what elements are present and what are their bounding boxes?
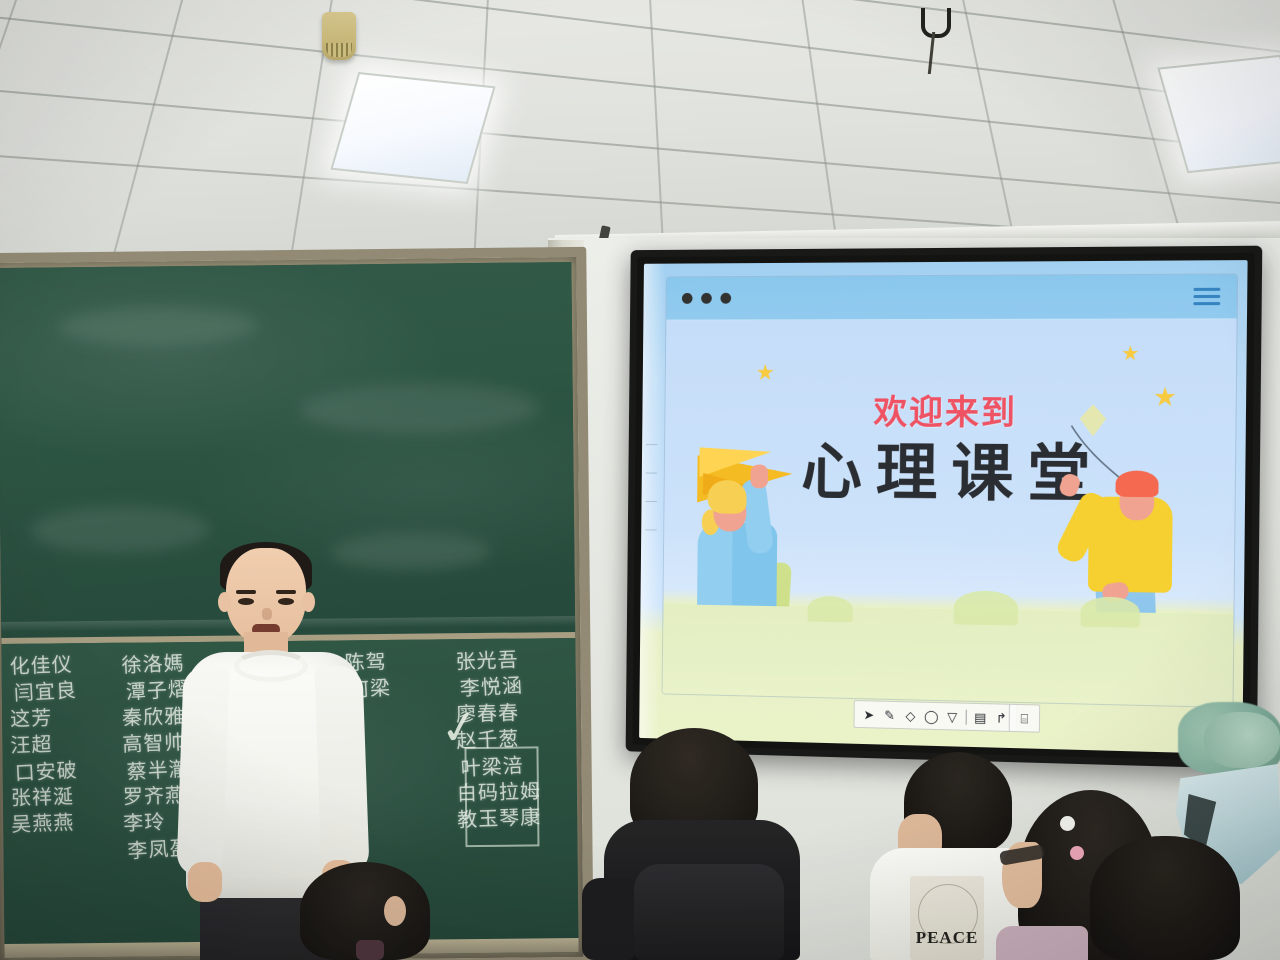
teacher-arm-right [314,665,369,875]
window-control-dots [682,293,731,304]
annotation-panel-icon[interactable]: ▤ [970,707,991,728]
teacher-nose [262,608,272,620]
toolbar-divider [966,709,967,724]
student-far-right [1090,836,1240,960]
teacher-ear-right [302,592,315,612]
teacher-eye-right [278,598,294,605]
pen-tool-icon[interactable]: ✎ [879,705,900,725]
window-dot-close-icon [682,293,693,304]
teacher-arm-left [176,665,229,876]
chalk-name: 吴燕燕 [11,810,123,836]
hamburger-menu-icon[interactable] [1193,288,1220,305]
slide-ground [663,604,1234,707]
bush-icon [954,590,1018,625]
browser-title-bar [666,274,1237,320]
chalk-name: 李悦涵 [460,672,573,700]
classroom-scene: 化佳仪 闫宜良 这芳 汪超 口安破 张祥涎 吴燕燕 徐洛媽 潭子熠 秦欣雅 高智… [0,0,1280,960]
window-dot-maximize-icon [720,293,731,304]
ceiling-hook-icon [921,8,947,68]
presentation-toolbar[interactable]: ➤ ✎ ◇ ◯ ▽ ▤ ↱ [854,700,1017,732]
interactive-display[interactable]: 欢迎来到 心理课堂 [626,246,1263,769]
smoke-detector-icon [322,12,356,60]
ceiling-tile-grid [0,0,1280,262]
teacher-collar [234,650,308,682]
slide-canvas: 欢迎来到 心理课堂 [663,319,1237,707]
shirt-peace-text: PEACE [910,928,984,948]
ceiling-light-panel-1 [330,72,495,184]
student-center-left [582,728,828,960]
browser-window-mockup: 欢迎来到 心理课堂 [663,274,1238,707]
display-screen[interactable]: 欢迎来到 心理课堂 [639,260,1247,754]
presentation-toolbar-secondary[interactable]: ⌸ [1009,704,1041,733]
chalk-name: 张光吾 [456,647,568,673]
teacher-hand-left [188,862,222,902]
magnifier-tool-icon[interactable]: ◯ [921,706,942,727]
student-front-left [300,862,430,960]
chalk-name: 口安破 [14,756,127,784]
chalk-name: 闫宜良 [13,677,126,705]
teacher-eye-left [238,598,254,605]
presentation-sidebar-edge [639,264,665,739]
bush-icon [1081,596,1140,627]
box-annotation-icon [464,746,539,847]
chalk-name: 张祥涎 [11,784,123,809]
slide-welcome-text: 欢迎来到 [665,395,1236,431]
chalk-name: 汪超 [10,730,122,756]
ceiling [0,0,1280,262]
screen-capture-icon[interactable]: ⌸ [1014,708,1035,729]
teacher-ear-left [218,592,231,612]
hair-clip-pink-icon [1070,846,1084,860]
cursor-tool-icon[interactable]: ➤ [858,704,879,724]
chalk-name: 化佳仪 [9,651,121,677]
chalk-name: 这芳 [10,705,122,730]
hair-clip-white-icon [1060,816,1075,831]
bush-icon [807,596,852,623]
teacher-brow-right [276,590,296,594]
window-dot-minimize-icon [701,293,712,304]
eraser-tool-icon[interactable]: ◇ [900,705,921,725]
chalk-column-1: 化佳仪 闫宜良 这芳 汪超 口安破 张祥涎 吴燕燕 [9,651,124,958]
spotlight-tool-icon[interactable]: ▽ [942,706,963,727]
teacher-brow-left [236,590,256,594]
